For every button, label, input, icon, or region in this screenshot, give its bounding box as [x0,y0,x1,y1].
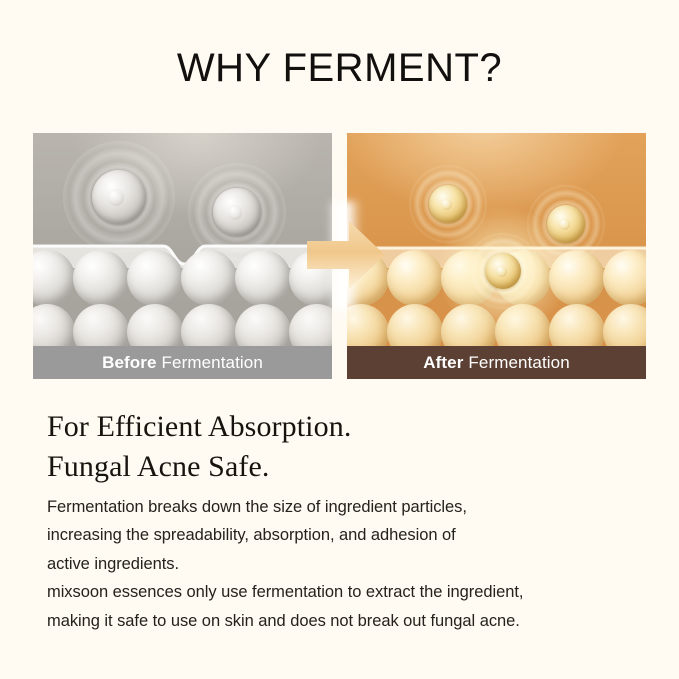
molecule-core [213,188,260,235]
label-before-strong: Before [102,353,156,373]
body-line-5: making it safe to use on skin and does n… [47,607,647,635]
molecule-nucleus [496,266,507,277]
label-before-fermentation: Before Fermentation [33,346,332,379]
pearl [181,304,237,346]
pearl [289,250,332,306]
before-fermentation-illustration [33,133,332,346]
body-line-3: active ingredients. [47,550,647,578]
pearl [603,304,646,346]
pearl [347,250,389,306]
molecule-nucleus [108,189,124,205]
molecule-penetrating [465,233,541,309]
body-line-2: increasing the spreadability, absorption… [47,521,647,549]
pearl [289,304,332,346]
pearl [235,304,291,346]
pearl [387,304,443,346]
panel-before: Before Fermentation [33,133,332,379]
label-after-rest: Fermentation [468,353,569,373]
molecule-nucleus [559,219,570,230]
panel-after: After Fermentation [347,133,646,379]
headline-line-1: For Efficient Absorption. [47,407,351,447]
headline-line-2: Fungal Acne Safe. [47,447,351,487]
molecule-nucleus [228,205,242,219]
molecule-nucleus [441,199,452,210]
body-copy: Fermentation breaks down the size of ing… [47,493,647,635]
headline: For Efficient Absorption. Fungal Acne Sa… [47,407,351,486]
pearl-row-back [33,250,332,306]
pearl [33,250,75,306]
after-fermentation-illustration [347,133,646,346]
pearl [73,250,129,306]
label-after-fermentation: After Fermentation [347,346,646,379]
body-line-1: Fermentation breaks down the size of ing… [47,493,647,521]
pearl [33,304,75,346]
molecule-large [188,163,286,261]
before-after-comparison: Before Fermentation [33,133,646,379]
pearl [347,304,389,346]
pearl-row-front [33,304,332,346]
label-after-strong: After [423,353,463,373]
pearl-layer-before [33,254,332,346]
page-title: WHY FERMENT? [0,48,679,88]
molecule-core [92,170,146,224]
pearl [127,304,183,346]
molecule-large [63,141,175,253]
pearl [127,250,183,306]
pearl [73,304,129,346]
pearl [603,250,646,306]
label-before-rest: Fermentation [162,353,263,373]
body-line-4: mixsoon essences only use fermentation t… [47,578,647,606]
